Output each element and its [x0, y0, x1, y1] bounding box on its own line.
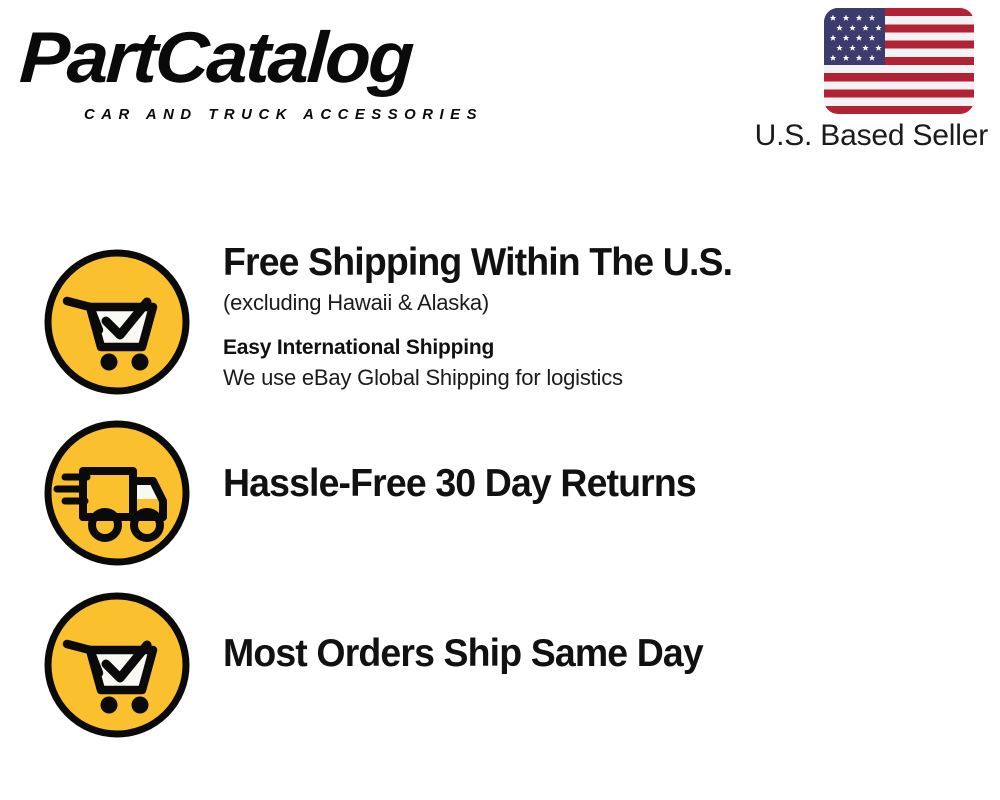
feature-text-block: Hassle-Free 30 Day Returns: [223, 461, 983, 507]
shopping-cart-check-icon: [43, 591, 191, 739]
us-flag-icon: [824, 8, 974, 114]
us-based-seller-label: U.S. Based Seller: [718, 118, 988, 154]
feature-sub-text: We use eBay Global Shipping for logistic…: [223, 363, 983, 393]
feature-text-block: Free Shipping Within The U.S. (excluding…: [223, 240, 983, 393]
brand-tagline: CAR AND TRUCK ACCESSORIES: [84, 106, 483, 124]
feature-text-block: Most Orders Ship Same Day: [223, 631, 983, 677]
feature-subtitle: (excluding Hawaii & Alaska): [223, 288, 983, 318]
feature-title: Hassle-Free 30 Day Returns: [223, 461, 953, 507]
shopping-cart-check-icon: [43, 248, 191, 396]
feature-sub-heading: Easy International Shipping: [223, 334, 983, 362]
delivery-truck-icon: [43, 419, 191, 567]
flag-stars-icon: [824, 8, 974, 114]
banner-header: PartCatalog CAR AND TRUCK ACCESSORIES: [0, 0, 1000, 165]
feature-title: Free Shipping Within The U.S.: [223, 240, 953, 286]
brand-wordmark: PartCatalog: [18, 20, 414, 96]
feature-row: Most Orders Ship Same Day: [0, 583, 1000, 743]
feature-row: Hassle-Free 30 Day Returns: [0, 411, 1000, 571]
us-based-seller-badge: U.S. Based Seller: [718, 8, 988, 158]
feature-title: Most Orders Ship Same Day: [223, 631, 953, 677]
brand-logo[interactable]: PartCatalog CAR AND TRUCK ACCESSORIES: [22, 20, 492, 115]
feature-row: Free Shipping Within The U.S. (excluding…: [0, 240, 1000, 400]
